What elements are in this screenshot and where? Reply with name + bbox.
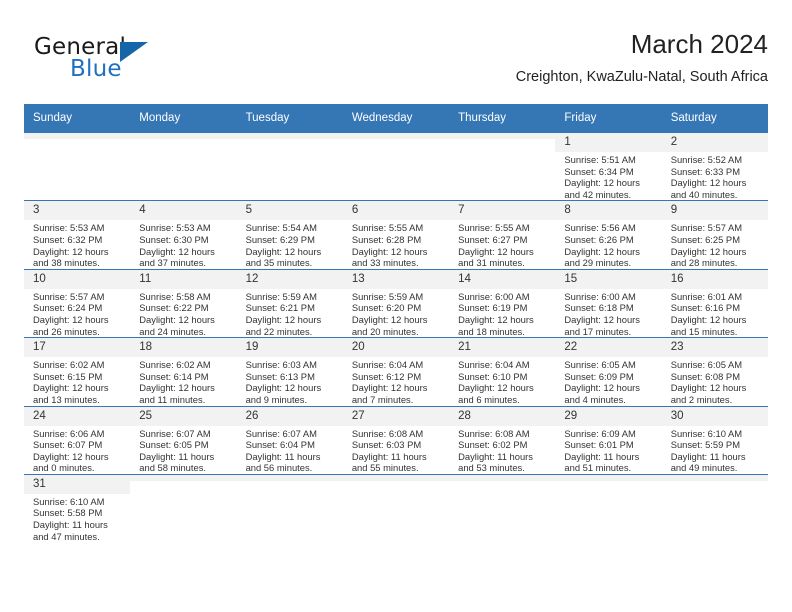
calendar-day-cell[interactable]: 18Sunrise: 6:02 AMSunset: 6:14 PMDayligh… (130, 338, 236, 406)
sunrise-time: Sunrise: 5:53 AM (33, 222, 124, 234)
day-number: 1 (555, 133, 661, 152)
day-cell-content (343, 475, 449, 542)
day-number: 30 (662, 407, 768, 426)
calendar-day-cell[interactable]: 8Sunrise: 5:56 AMSunset: 6:26 PMDaylight… (555, 201, 661, 269)
sunset-time: Sunset: 6:04 PM (246, 439, 337, 451)
sunset-time: Sunset: 6:33 PM (671, 166, 762, 178)
calendar-day-cell[interactable]: 24Sunrise: 6:06 AMSunset: 6:07 PMDayligh… (24, 406, 130, 474)
day-cell-content (130, 475, 236, 542)
daylight-duration-line-1: Daylight: 12 hours (139, 382, 230, 394)
day-number: 14 (449, 270, 555, 289)
sunset-time: Sunset: 6:15 PM (33, 371, 124, 383)
day-number: 4 (130, 201, 236, 220)
daylight-duration-line-1: Daylight: 12 hours (564, 314, 655, 326)
sunset-time: Sunset: 6:03 PM (352, 439, 443, 451)
daylight-duration-line-1: Daylight: 12 hours (139, 314, 230, 326)
day-number: 17 (24, 338, 130, 357)
sunset-time: Sunset: 6:20 PM (352, 302, 443, 314)
day-sun-details: Sunrise: 6:09 AMSunset: 6:01 PMDaylight:… (555, 426, 661, 474)
day-cell-content: 1Sunrise: 5:51 AMSunset: 6:34 PMDaylight… (555, 133, 661, 200)
day-number (130, 475, 236, 481)
day-cell-content: 13Sunrise: 5:59 AMSunset: 6:20 PMDayligh… (343, 270, 449, 337)
day-sun-details: Sunrise: 5:52 AMSunset: 6:33 PMDaylight:… (662, 152, 768, 200)
daylight-duration-line-2: and 15 minutes. (671, 326, 762, 338)
sunrise-time: Sunrise: 5:59 AM (246, 291, 337, 303)
column-header-thursday: Thursday (449, 104, 555, 133)
sunset-time: Sunset: 6:22 PM (139, 302, 230, 314)
sunset-time: Sunset: 6:12 PM (352, 371, 443, 383)
calendar-day-cell[interactable]: 22Sunrise: 6:05 AMSunset: 6:09 PMDayligh… (555, 338, 661, 406)
sunrise-time: Sunrise: 6:04 AM (458, 359, 549, 371)
daylight-duration-line-1: Daylight: 12 hours (564, 382, 655, 394)
daylight-duration-line-2: and 35 minutes. (246, 257, 337, 269)
day-number (343, 133, 449, 139)
sunrise-time: Sunrise: 5:57 AM (33, 291, 124, 303)
calendar-day-cell[interactable] (24, 133, 130, 201)
day-cell-content: 28Sunrise: 6:08 AMSunset: 6:02 PMDayligh… (449, 407, 555, 474)
day-sun-details: Sunrise: 6:05 AMSunset: 6:08 PMDaylight:… (662, 357, 768, 405)
day-sun-details: Sunrise: 5:55 AMSunset: 6:27 PMDaylight:… (449, 220, 555, 268)
calendar-day-cell[interactable]: 27Sunrise: 6:08 AMSunset: 6:03 PMDayligh… (343, 406, 449, 474)
sunrise-time: Sunrise: 5:53 AM (139, 222, 230, 234)
calendar-day-cell[interactable]: 9Sunrise: 5:57 AMSunset: 6:25 PMDaylight… (662, 201, 768, 269)
sunrise-time: Sunrise: 5:59 AM (352, 291, 443, 303)
day-sun-details: Sunrise: 5:54 AMSunset: 6:29 PMDaylight:… (237, 220, 343, 268)
day-number (555, 475, 661, 481)
day-sun-details: Sunrise: 6:04 AMSunset: 6:12 PMDaylight:… (343, 357, 449, 405)
daylight-duration-line-1: Daylight: 12 hours (246, 382, 337, 394)
day-sun-details: Sunrise: 5:55 AMSunset: 6:28 PMDaylight:… (343, 220, 449, 268)
day-cell-content: 14Sunrise: 6:00 AMSunset: 6:19 PMDayligh… (449, 270, 555, 337)
sunrise-time: Sunrise: 5:51 AM (564, 154, 655, 166)
calendar-day-cell[interactable]: 2Sunrise: 5:52 AMSunset: 6:33 PMDaylight… (662, 133, 768, 201)
day-number: 22 (555, 338, 661, 357)
calendar-day-cell[interactable]: 31Sunrise: 6:10 AMSunset: 5:58 PMDayligh… (24, 474, 130, 542)
sunset-time: Sunset: 5:58 PM (33, 507, 124, 519)
day-cell-content: 5Sunrise: 5:54 AMSunset: 6:29 PMDaylight… (237, 201, 343, 268)
sunrise-time: Sunrise: 6:06 AM (33, 428, 124, 440)
daylight-duration-line-1: Daylight: 12 hours (33, 314, 124, 326)
sunrise-time: Sunrise: 6:05 AM (671, 359, 762, 371)
calendar-day-cell[interactable]: 13Sunrise: 5:59 AMSunset: 6:20 PMDayligh… (343, 269, 449, 337)
calendar-day-cell[interactable] (343, 474, 449, 542)
calendar-day-cell[interactable] (130, 474, 236, 542)
column-header-tuesday: Tuesday (237, 104, 343, 133)
sunrise-time: Sunrise: 6:04 AM (352, 359, 443, 371)
day-cell-content: 19Sunrise: 6:03 AMSunset: 6:13 PMDayligh… (237, 338, 343, 405)
calendar-day-cell[interactable]: 28Sunrise: 6:08 AMSunset: 6:02 PMDayligh… (449, 406, 555, 474)
day-sun-details: Sunrise: 6:08 AMSunset: 6:03 PMDaylight:… (343, 426, 449, 474)
day-number: 29 (555, 407, 661, 426)
sunset-time: Sunset: 6:30 PM (139, 234, 230, 246)
daylight-duration-line-2: and 37 minutes. (139, 257, 230, 269)
day-number (24, 133, 130, 139)
day-cell-content: 24Sunrise: 6:06 AMSunset: 6:07 PMDayligh… (24, 407, 130, 474)
day-cell-content: 22Sunrise: 6:05 AMSunset: 6:09 PMDayligh… (555, 338, 661, 405)
daylight-duration-line-1: Daylight: 12 hours (33, 246, 124, 258)
calendar-day-cell[interactable]: 4Sunrise: 5:53 AMSunset: 6:30 PMDaylight… (130, 201, 236, 269)
calendar-day-cell[interactable] (555, 474, 661, 542)
day-sun-details: Sunrise: 6:10 AMSunset: 5:59 PMDaylight:… (662, 426, 768, 474)
sunrise-time: Sunrise: 6:02 AM (33, 359, 124, 371)
sunrise-time: Sunrise: 5:56 AM (564, 222, 655, 234)
daylight-duration-line-2: and 6 minutes. (458, 394, 549, 406)
daylight-duration-line-1: Daylight: 12 hours (458, 246, 549, 258)
sunrise-time: Sunrise: 6:08 AM (458, 428, 549, 440)
daylight-duration-line-2: and 26 minutes. (33, 326, 124, 338)
sunset-time: Sunset: 6:32 PM (33, 234, 124, 246)
day-number: 27 (343, 407, 449, 426)
daylight-duration-line-1: Daylight: 12 hours (458, 382, 549, 394)
daylight-duration-line-2: and 51 minutes. (564, 462, 655, 474)
daylight-duration-line-1: Daylight: 11 hours (352, 451, 443, 463)
daylight-duration-line-2: and 42 minutes. (564, 189, 655, 201)
sunset-time: Sunset: 5:59 PM (671, 439, 762, 451)
day-number (130, 133, 236, 139)
calendar-day-cell[interactable]: 12Sunrise: 5:59 AMSunset: 6:21 PMDayligh… (237, 269, 343, 337)
sunrise-time: Sunrise: 6:10 AM (33, 496, 124, 508)
daylight-duration-line-2: and 49 minutes. (671, 462, 762, 474)
sunrise-time: Sunrise: 6:00 AM (564, 291, 655, 303)
day-number: 8 (555, 201, 661, 220)
day-sun-details: Sunrise: 5:57 AMSunset: 6:24 PMDaylight:… (24, 289, 130, 337)
daylight-duration-line-1: Daylight: 12 hours (33, 382, 124, 394)
day-cell-content (237, 133, 343, 200)
calendar-day-cell[interactable] (449, 474, 555, 542)
daylight-duration-line-2: and 47 minutes. (33, 531, 124, 543)
general-blue-logo[interactable]: General Blue (34, 34, 234, 90)
daylight-duration-line-1: Daylight: 11 hours (671, 451, 762, 463)
daylight-duration-line-2: and 40 minutes. (671, 189, 762, 201)
calendar-week-row: 3Sunrise: 5:53 AMSunset: 6:32 PMDaylight… (24, 201, 768, 269)
calendar-header-row: Sunday Monday Tuesday Wednesday Thursday… (24, 104, 768, 133)
sunset-time: Sunset: 6:01 PM (564, 439, 655, 451)
calendar-day-cell[interactable]: 26Sunrise: 6:07 AMSunset: 6:04 PMDayligh… (237, 406, 343, 474)
daylight-duration-line-2: and 58 minutes. (139, 462, 230, 474)
day-number: 23 (662, 338, 768, 357)
calendar-day-cell[interactable]: 25Sunrise: 6:07 AMSunset: 6:05 PMDayligh… (130, 406, 236, 474)
calendar-body: 1Sunrise: 5:51 AMSunset: 6:34 PMDaylight… (24, 133, 768, 543)
day-number: 16 (662, 270, 768, 289)
sunset-time: Sunset: 6:02 PM (458, 439, 549, 451)
daylight-duration-line-1: Daylight: 11 hours (246, 451, 337, 463)
day-number: 21 (449, 338, 555, 357)
calendar-day-cell[interactable]: 16Sunrise: 6:01 AMSunset: 6:16 PMDayligh… (662, 269, 768, 337)
day-cell-content: 21Sunrise: 6:04 AMSunset: 6:10 PMDayligh… (449, 338, 555, 405)
column-header-friday: Friday (555, 104, 661, 133)
calendar-day-cell[interactable] (237, 474, 343, 542)
daylight-duration-line-1: Daylight: 12 hours (246, 314, 337, 326)
day-sun-details: Sunrise: 5:51 AMSunset: 6:34 PMDaylight:… (555, 152, 661, 200)
daylight-duration-line-1: Daylight: 12 hours (671, 177, 762, 189)
sunset-time: Sunset: 6:27 PM (458, 234, 549, 246)
calendar-day-cell[interactable] (343, 133, 449, 201)
day-cell-content (662, 475, 768, 542)
day-number: 18 (130, 338, 236, 357)
daylight-duration-line-1: Daylight: 11 hours (33, 519, 124, 531)
day-cell-content: 3Sunrise: 5:53 AMSunset: 6:32 PMDaylight… (24, 201, 130, 268)
daylight-duration-line-1: Daylight: 11 hours (458, 451, 549, 463)
day-sun-details: Sunrise: 6:07 AMSunset: 6:05 PMDaylight:… (130, 426, 236, 474)
page-subtitle: Creighton, KwaZulu-Natal, South Africa (516, 67, 768, 87)
calendar-day-cell[interactable]: 14Sunrise: 6:00 AMSunset: 6:19 PMDayligh… (449, 269, 555, 337)
calendar-day-cell[interactable]: 20Sunrise: 6:04 AMSunset: 6:12 PMDayligh… (343, 338, 449, 406)
calendar-week-row: 10Sunrise: 5:57 AMSunset: 6:24 PMDayligh… (24, 269, 768, 337)
sunrise-time: Sunrise: 6:07 AM (246, 428, 337, 440)
daylight-duration-line-2: and 18 minutes. (458, 326, 549, 338)
calendar-day-cell[interactable] (237, 133, 343, 201)
daylight-duration-line-2: and 24 minutes. (139, 326, 230, 338)
daylight-duration-line-2: and 33 minutes. (352, 257, 443, 269)
calendar-day-cell[interactable]: 10Sunrise: 5:57 AMSunset: 6:24 PMDayligh… (24, 269, 130, 337)
sunrise-time: Sunrise: 5:55 AM (352, 222, 443, 234)
day-number: 12 (237, 270, 343, 289)
day-number: 15 (555, 270, 661, 289)
day-number (449, 133, 555, 139)
calendar-page: General Blue March 2024 Creighton, KwaZu… (0, 0, 792, 612)
day-sun-details: Sunrise: 6:00 AMSunset: 6:18 PMDaylight:… (555, 289, 661, 337)
daylight-duration-line-2: and 0 minutes. (33, 462, 124, 474)
sun-times-calendar: Sunday Monday Tuesday Wednesday Thursday… (24, 104, 768, 542)
calendar-day-cell[interactable]: 19Sunrise: 6:03 AMSunset: 6:13 PMDayligh… (237, 338, 343, 406)
sunrise-time: Sunrise: 5:57 AM (671, 222, 762, 234)
day-cell-content: 16Sunrise: 6:01 AMSunset: 6:16 PMDayligh… (662, 270, 768, 337)
day-sun-details: Sunrise: 6:05 AMSunset: 6:09 PMDaylight:… (555, 357, 661, 405)
daylight-duration-line-2: and 11 minutes. (139, 394, 230, 406)
sunrise-time: Sunrise: 5:55 AM (458, 222, 549, 234)
calendar-day-cell[interactable]: 11Sunrise: 5:58 AMSunset: 6:22 PMDayligh… (130, 269, 236, 337)
daylight-duration-line-2: and 17 minutes. (564, 326, 655, 338)
daylight-duration-line-1: Daylight: 12 hours (352, 382, 443, 394)
day-cell-content: 26Sunrise: 6:07 AMSunset: 6:04 PMDayligh… (237, 407, 343, 474)
sunrise-time: Sunrise: 6:07 AM (139, 428, 230, 440)
day-cell-content: 2Sunrise: 5:52 AMSunset: 6:33 PMDaylight… (662, 133, 768, 200)
sunset-time: Sunset: 6:29 PM (246, 234, 337, 246)
day-sun-details: Sunrise: 5:56 AMSunset: 6:26 PMDaylight:… (555, 220, 661, 268)
sunrise-time: Sunrise: 5:52 AM (671, 154, 762, 166)
calendar-day-cell[interactable] (449, 133, 555, 201)
sunset-time: Sunset: 6:16 PM (671, 302, 762, 314)
day-number (343, 475, 449, 481)
sunset-time: Sunset: 6:10 PM (458, 371, 549, 383)
calendar-week-row: 31Sunrise: 6:10 AMSunset: 5:58 PMDayligh… (24, 474, 768, 542)
calendar-day-cell[interactable]: 3Sunrise: 5:53 AMSunset: 6:32 PMDaylight… (24, 201, 130, 269)
calendar-day-cell[interactable]: 23Sunrise: 6:05 AMSunset: 6:08 PMDayligh… (662, 338, 768, 406)
page-header: General Blue March 2024 Creighton, KwaZu… (24, 28, 768, 96)
calendar-week-row: 1Sunrise: 5:51 AMSunset: 6:34 PMDaylight… (24, 133, 768, 201)
day-cell-content: 29Sunrise: 6:09 AMSunset: 6:01 PMDayligh… (555, 407, 661, 474)
sunset-time: Sunset: 6:21 PM (246, 302, 337, 314)
day-cell-content: 8Sunrise: 5:56 AMSunset: 6:26 PMDaylight… (555, 201, 661, 268)
day-sun-details: Sunrise: 6:03 AMSunset: 6:13 PMDaylight:… (237, 357, 343, 405)
daylight-duration-line-2: and 22 minutes. (246, 326, 337, 338)
day-number: 10 (24, 270, 130, 289)
day-number: 6 (343, 201, 449, 220)
day-number: 7 (449, 201, 555, 220)
sunrise-time: Sunrise: 5:54 AM (246, 222, 337, 234)
day-cell-content (555, 475, 661, 542)
day-number: 25 (130, 407, 236, 426)
calendar-week-row: 24Sunrise: 6:06 AMSunset: 6:07 PMDayligh… (24, 406, 768, 474)
day-number (237, 133, 343, 139)
daylight-duration-line-1: Daylight: 12 hours (671, 382, 762, 394)
day-cell-content (449, 475, 555, 542)
column-header-saturday: Saturday (662, 104, 768, 133)
daylight-duration-line-2: and 9 minutes. (246, 394, 337, 406)
column-header-monday: Monday (130, 104, 236, 133)
logo-text-blue: Blue (70, 56, 122, 82)
day-number: 20 (343, 338, 449, 357)
day-cell-content: 11Sunrise: 5:58 AMSunset: 6:22 PMDayligh… (130, 270, 236, 337)
day-cell-content: 9Sunrise: 5:57 AMSunset: 6:25 PMDaylight… (662, 201, 768, 268)
day-number (662, 475, 768, 481)
day-number: 24 (24, 407, 130, 426)
daylight-duration-line-2: and 56 minutes. (246, 462, 337, 474)
day-sun-details: Sunrise: 6:02 AMSunset: 6:15 PMDaylight:… (24, 357, 130, 405)
day-sun-details: Sunrise: 5:57 AMSunset: 6:25 PMDaylight:… (662, 220, 768, 268)
daylight-duration-line-1: Daylight: 12 hours (564, 246, 655, 258)
day-cell-content (237, 475, 343, 542)
day-sun-details: Sunrise: 6:04 AMSunset: 6:10 PMDaylight:… (449, 357, 555, 405)
calendar-day-cell[interactable]: 6Sunrise: 5:55 AMSunset: 6:28 PMDaylight… (343, 201, 449, 269)
day-cell-content: 18Sunrise: 6:02 AMSunset: 6:14 PMDayligh… (130, 338, 236, 405)
day-cell-content: 25Sunrise: 6:07 AMSunset: 6:05 PMDayligh… (130, 407, 236, 474)
day-cell-content (343, 133, 449, 200)
day-number: 9 (662, 201, 768, 220)
day-number: 26 (237, 407, 343, 426)
calendar-day-cell[interactable]: 29Sunrise: 6:09 AMSunset: 6:01 PMDayligh… (555, 406, 661, 474)
daylight-duration-line-2: and 55 minutes. (352, 462, 443, 474)
day-sun-details: Sunrise: 5:53 AMSunset: 6:30 PMDaylight:… (130, 220, 236, 268)
day-number: 13 (343, 270, 449, 289)
calendar-day-cell[interactable]: 7Sunrise: 5:55 AMSunset: 6:27 PMDaylight… (449, 201, 555, 269)
daylight-duration-line-1: Daylight: 11 hours (139, 451, 230, 463)
sunset-time: Sunset: 6:28 PM (352, 234, 443, 246)
day-cell-content: 10Sunrise: 5:57 AMSunset: 6:24 PMDayligh… (24, 270, 130, 337)
day-sun-details: Sunrise: 6:01 AMSunset: 6:16 PMDaylight:… (662, 289, 768, 337)
day-cell-content (130, 133, 236, 200)
daylight-duration-line-1: Daylight: 12 hours (671, 246, 762, 258)
daylight-duration-line-2: and 38 minutes. (33, 257, 124, 269)
sunset-time: Sunset: 6:14 PM (139, 371, 230, 383)
day-cell-content: 15Sunrise: 6:00 AMSunset: 6:18 PMDayligh… (555, 270, 661, 337)
day-cell-content: 4Sunrise: 5:53 AMSunset: 6:30 PMDaylight… (130, 201, 236, 268)
day-number (449, 475, 555, 481)
sunset-time: Sunset: 6:09 PM (564, 371, 655, 383)
day-cell-content (449, 133, 555, 200)
day-cell-content: 7Sunrise: 5:55 AMSunset: 6:27 PMDaylight… (449, 201, 555, 268)
sunrise-time: Sunrise: 6:02 AM (139, 359, 230, 371)
sunset-time: Sunset: 6:26 PM (564, 234, 655, 246)
day-cell-content: 27Sunrise: 6:08 AMSunset: 6:03 PMDayligh… (343, 407, 449, 474)
daylight-duration-line-2: and 7 minutes. (352, 394, 443, 406)
sunrise-time: Sunrise: 6:01 AM (671, 291, 762, 303)
calendar-day-cell[interactable] (130, 133, 236, 201)
calendar-day-cell[interactable]: 21Sunrise: 6:04 AMSunset: 6:10 PMDayligh… (449, 338, 555, 406)
day-sun-details: Sunrise: 5:53 AMSunset: 6:32 PMDaylight:… (24, 220, 130, 268)
sunset-time: Sunset: 6:13 PM (246, 371, 337, 383)
daylight-duration-line-2: and 20 minutes. (352, 326, 443, 338)
day-number: 28 (449, 407, 555, 426)
sunset-time: Sunset: 6:34 PM (564, 166, 655, 178)
sunset-time: Sunset: 6:05 PM (139, 439, 230, 451)
sunrise-time: Sunrise: 6:00 AM (458, 291, 549, 303)
day-cell-content: 23Sunrise: 6:05 AMSunset: 6:08 PMDayligh… (662, 338, 768, 405)
day-sun-details: Sunrise: 6:06 AMSunset: 6:07 PMDaylight:… (24, 426, 130, 474)
daylight-duration-line-1: Daylight: 11 hours (564, 451, 655, 463)
day-sun-details: Sunrise: 6:07 AMSunset: 6:04 PMDaylight:… (237, 426, 343, 474)
day-number: 2 (662, 133, 768, 152)
day-number: 3 (24, 201, 130, 220)
page-title: March 2024 (516, 28, 768, 60)
sunset-time: Sunset: 6:18 PM (564, 302, 655, 314)
sunrise-time: Sunrise: 6:09 AM (564, 428, 655, 440)
calendar-day-cell[interactable]: 30Sunrise: 6:10 AMSunset: 5:59 PMDayligh… (662, 406, 768, 474)
day-number: 31 (24, 475, 130, 494)
daylight-duration-line-2: and 53 minutes. (458, 462, 549, 474)
calendar-day-cell[interactable] (662, 474, 768, 542)
calendar-day-cell[interactable]: 1Sunrise: 5:51 AMSunset: 6:34 PMDaylight… (555, 133, 661, 201)
day-cell-content (24, 133, 130, 200)
column-header-sunday: Sunday (24, 104, 130, 133)
calendar-day-cell[interactable]: 15Sunrise: 6:00 AMSunset: 6:18 PMDayligh… (555, 269, 661, 337)
daylight-duration-line-1: Daylight: 12 hours (352, 314, 443, 326)
sunset-time: Sunset: 6:25 PM (671, 234, 762, 246)
day-cell-content: 17Sunrise: 6:02 AMSunset: 6:15 PMDayligh… (24, 338, 130, 405)
day-sun-details: Sunrise: 5:59 AMSunset: 6:20 PMDaylight:… (343, 289, 449, 337)
daylight-duration-line-1: Daylight: 12 hours (33, 451, 124, 463)
daylight-duration-line-1: Daylight: 12 hours (458, 314, 549, 326)
day-number: 11 (130, 270, 236, 289)
logo-triangle-icon (120, 42, 148, 62)
day-cell-content: 6Sunrise: 5:55 AMSunset: 6:28 PMDaylight… (343, 201, 449, 268)
day-sun-details: Sunrise: 5:58 AMSunset: 6:22 PMDaylight:… (130, 289, 236, 337)
calendar-day-cell[interactable]: 17Sunrise: 6:02 AMSunset: 6:15 PMDayligh… (24, 338, 130, 406)
sunset-time: Sunset: 6:07 PM (33, 439, 124, 451)
sunset-time: Sunset: 6:08 PM (671, 371, 762, 383)
daylight-duration-line-1: Daylight: 12 hours (671, 314, 762, 326)
calendar-day-cell[interactable]: 5Sunrise: 5:54 AMSunset: 6:29 PMDaylight… (237, 201, 343, 269)
sunset-time: Sunset: 6:24 PM (33, 302, 124, 314)
day-sun-details: Sunrise: 5:59 AMSunset: 6:21 PMDaylight:… (237, 289, 343, 337)
day-cell-content: 31Sunrise: 6:10 AMSunset: 5:58 PMDayligh… (24, 475, 130, 542)
day-number: 19 (237, 338, 343, 357)
daylight-duration-line-2: and 4 minutes. (564, 394, 655, 406)
daylight-duration-line-1: Daylight: 12 hours (246, 246, 337, 258)
title-block: March 2024 Creighton, KwaZulu-Natal, Sou… (516, 28, 768, 87)
day-sun-details: Sunrise: 6:02 AMSunset: 6:14 PMDaylight:… (130, 357, 236, 405)
day-sun-details: Sunrise: 6:00 AMSunset: 6:19 PMDaylight:… (449, 289, 555, 337)
daylight-duration-line-2: and 31 minutes. (458, 257, 549, 269)
daylight-duration-line-1: Daylight: 12 hours (352, 246, 443, 258)
sunset-time: Sunset: 6:19 PM (458, 302, 549, 314)
day-cell-content: 20Sunrise: 6:04 AMSunset: 6:12 PMDayligh… (343, 338, 449, 405)
daylight-duration-line-1: Daylight: 12 hours (139, 246, 230, 258)
sunrise-time: Sunrise: 6:03 AM (246, 359, 337, 371)
day-cell-content: 12Sunrise: 5:59 AMSunset: 6:21 PMDayligh… (237, 270, 343, 337)
daylight-duration-line-2: and 2 minutes. (671, 394, 762, 406)
day-cell-content: 30Sunrise: 6:10 AMSunset: 5:59 PMDayligh… (662, 407, 768, 474)
sunrise-time: Sunrise: 6:08 AM (352, 428, 443, 440)
day-number (237, 475, 343, 481)
sunrise-time: Sunrise: 6:05 AM (564, 359, 655, 371)
day-sun-details: Sunrise: 6:10 AMSunset: 5:58 PMDaylight:… (24, 494, 130, 542)
day-number: 5 (237, 201, 343, 220)
sunrise-time: Sunrise: 5:58 AM (139, 291, 230, 303)
sunrise-time: Sunrise: 6:10 AM (671, 428, 762, 440)
daylight-duration-line-2: and 28 minutes. (671, 257, 762, 269)
daylight-duration-line-2: and 29 minutes. (564, 257, 655, 269)
